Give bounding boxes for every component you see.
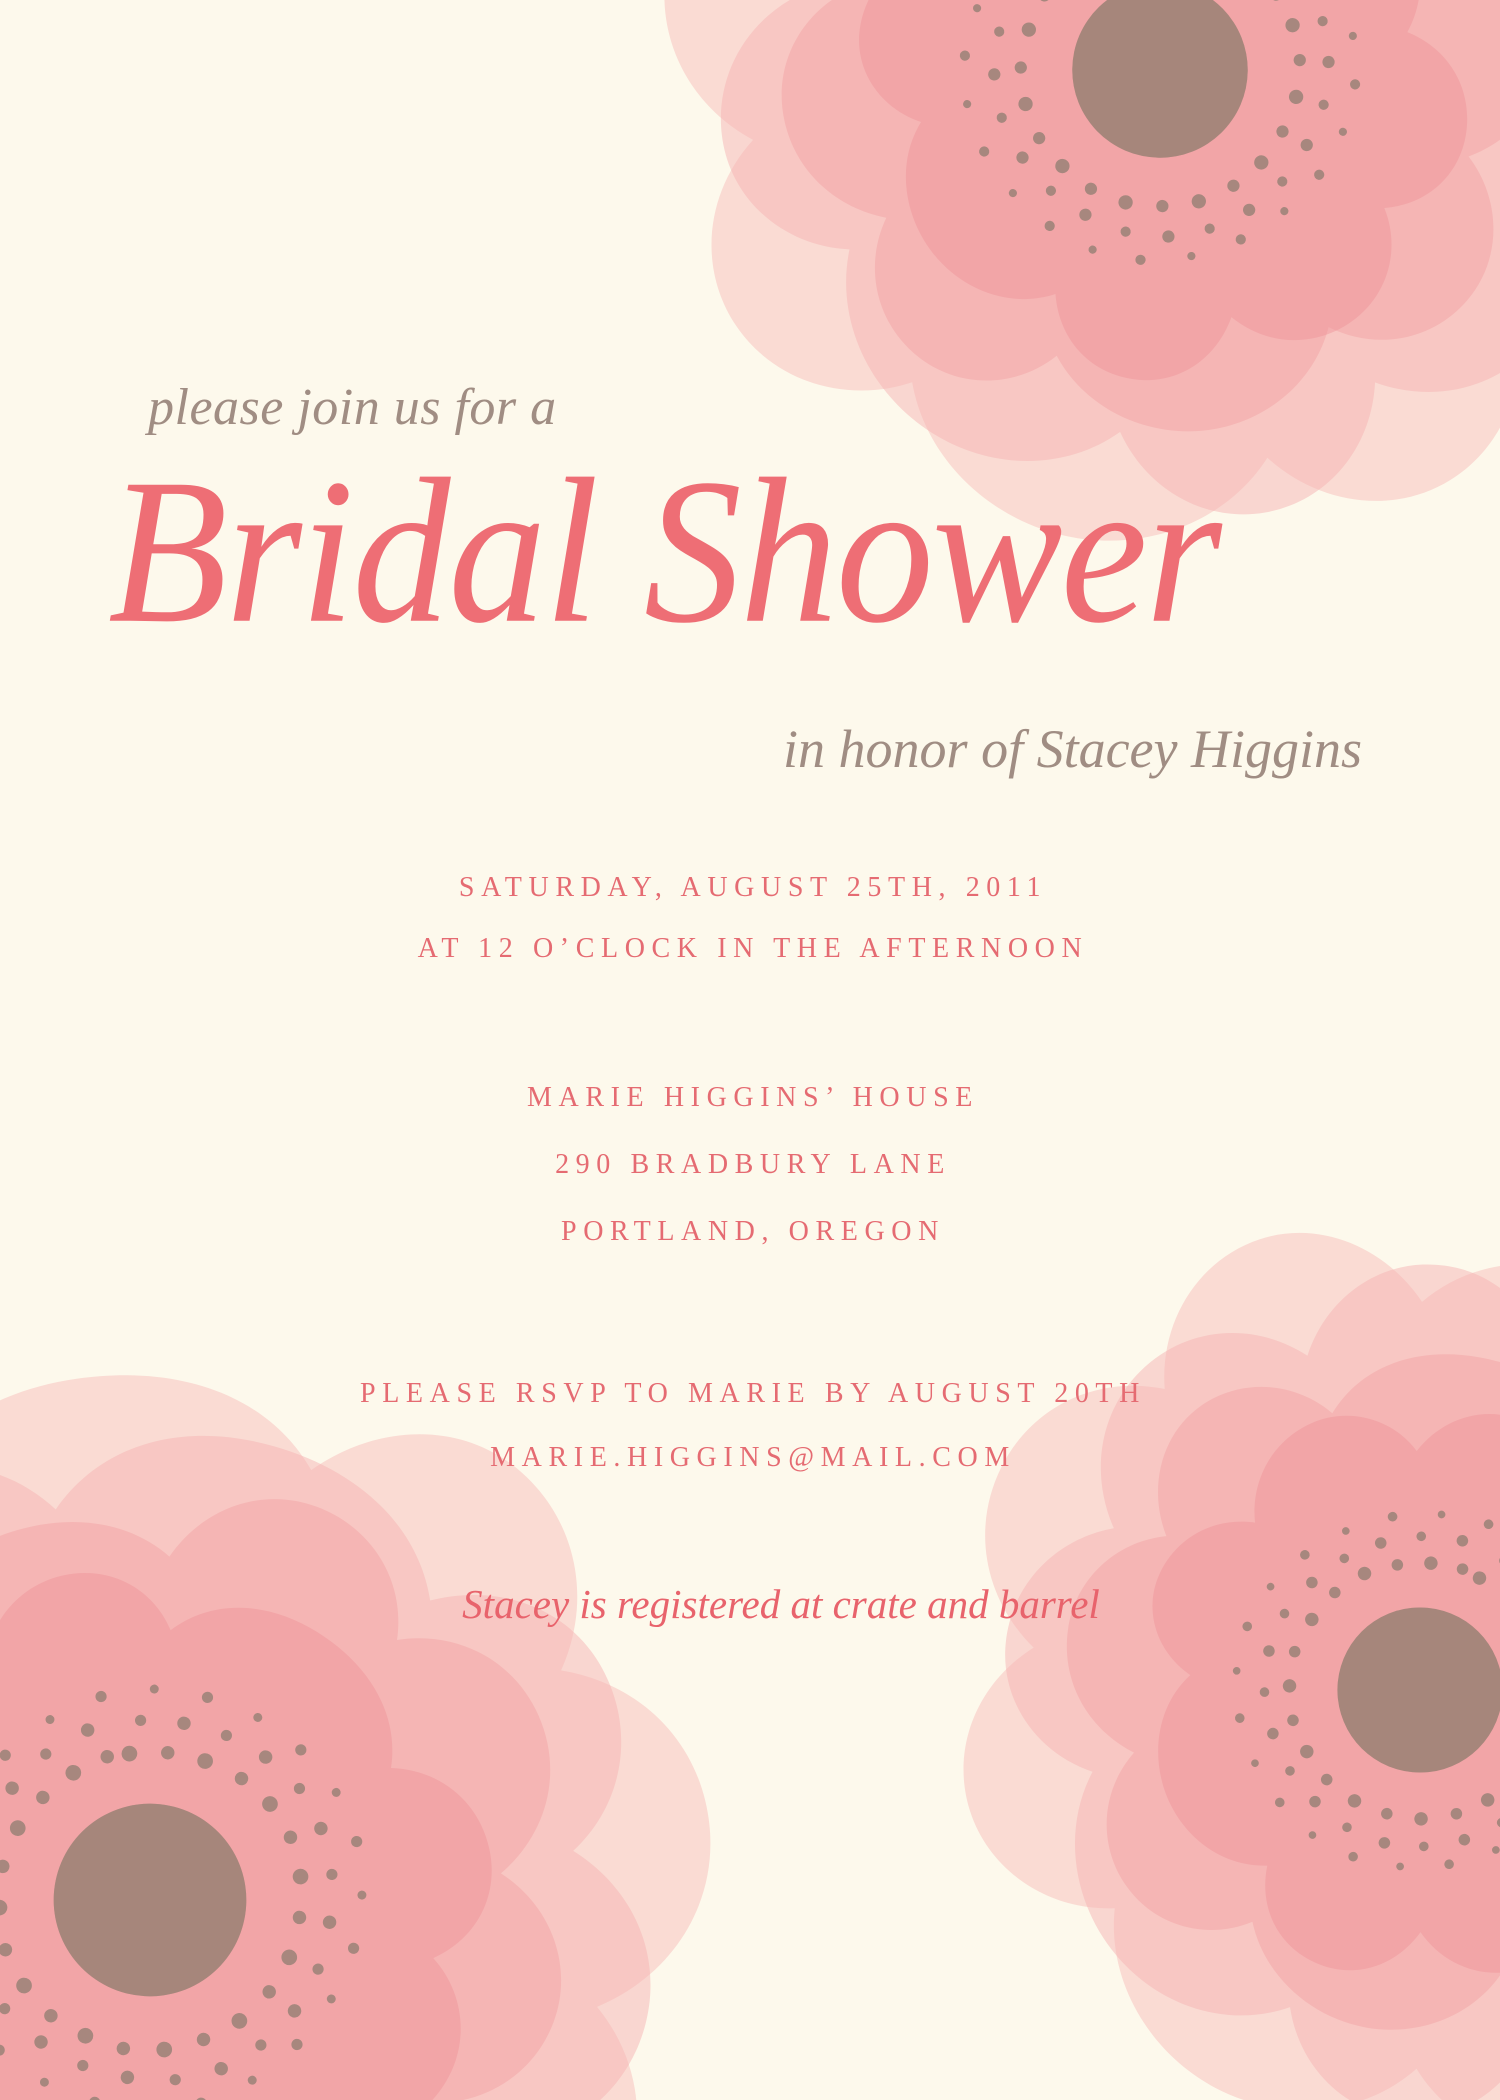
honoree-text: in honor of Stacey Higgins	[783, 718, 1362, 780]
event-time: At 12 o’clock in the afternoon	[0, 933, 1500, 965]
venue-street: 290 Bradbury Lane	[0, 1149, 1500, 1181]
event-when-block: Saturday, August 25th, 2011 At 12 o’cloc…	[0, 872, 1500, 965]
invitation-card: please join us for a Bridal Shower in ho…	[0, 0, 1500, 2100]
invitation-text-layer: please join us for a Bridal Shower in ho…	[0, 0, 1500, 2100]
registry-note: Stacey is registered at crate and barrel	[0, 1580, 1500, 1628]
venue-city-state: Portland, Oregon	[0, 1216, 1500, 1248]
page-title: Bridal Shower	[108, 448, 1398, 656]
eyebrow-text: please join us for a	[148, 378, 557, 437]
event-date: Saturday, August 25th, 2011	[0, 872, 1500, 904]
rsvp-email: marie.higgins@mail.com	[0, 1442, 1500, 1474]
rsvp-instruction: Please RSVP to Marie by August 20th	[0, 1378, 1500, 1410]
venue-name: Marie Higgins’ House	[0, 1082, 1500, 1114]
rsvp-block: Please RSVP to Marie by August 20th mari…	[0, 1378, 1500, 1474]
event-where-block: Marie Higgins’ House 290 Bradbury Lane P…	[0, 1082, 1500, 1248]
